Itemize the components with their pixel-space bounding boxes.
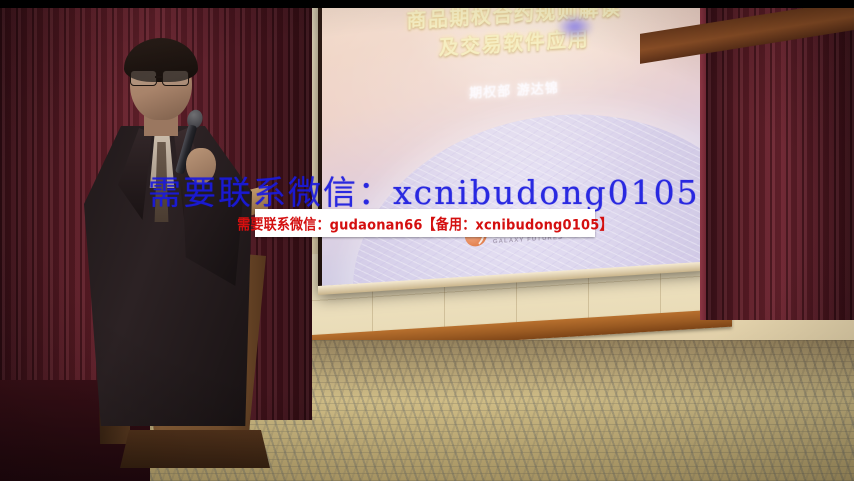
speaker-person xyxy=(78,38,258,458)
eyeglasses-icon xyxy=(130,70,192,85)
blue-wechat-watermark: 需要联系微信：xcnibudong0105 xyxy=(148,176,728,209)
eyeglass-lens-right xyxy=(162,70,189,86)
eyeglass-bridge xyxy=(155,76,162,78)
eyeglass-lens-left xyxy=(130,70,157,86)
red-contact-banner: 需要联系微信：gudaonan66【备用：xcnibudong0105】 xyxy=(255,209,595,237)
red-contact-banner-text: 需要联系微信：gudaonan66【备用：xcnibudong0105】 xyxy=(237,212,613,233)
presentation-photo-scene: 商品期权合约规则解读 及交易软件应用 期权部 游达锦 银河期货 GALAXY F… xyxy=(0,0,854,481)
blue-light-spot xyxy=(556,14,594,40)
letterbox-bar-top xyxy=(0,0,854,8)
